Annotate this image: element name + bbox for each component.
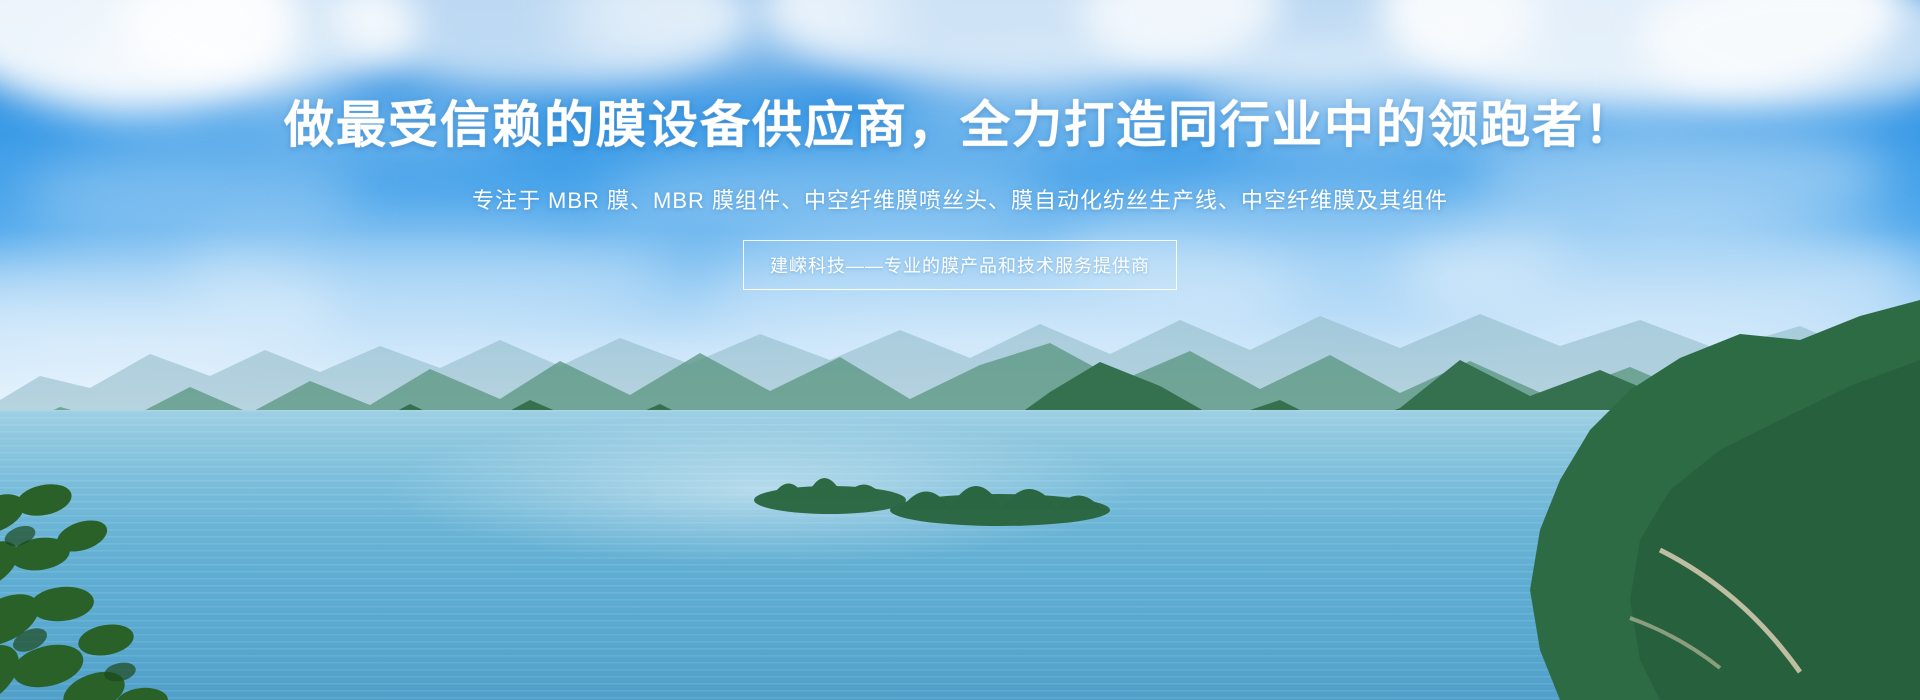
cloud-icon — [250, 90, 530, 160]
hero-banner: 做最受信赖的膜设备供应商，全力打造同行业中的领跑者！ 专注于 MBR 膜、MBR… — [0, 0, 1920, 700]
cloud-icon — [1180, 40, 1560, 150]
island-medium — [880, 430, 1120, 530]
foreground-foliage — [0, 480, 190, 700]
forest-ridge-right — [1160, 300, 1920, 700]
cloud-icon — [880, 70, 1180, 150]
